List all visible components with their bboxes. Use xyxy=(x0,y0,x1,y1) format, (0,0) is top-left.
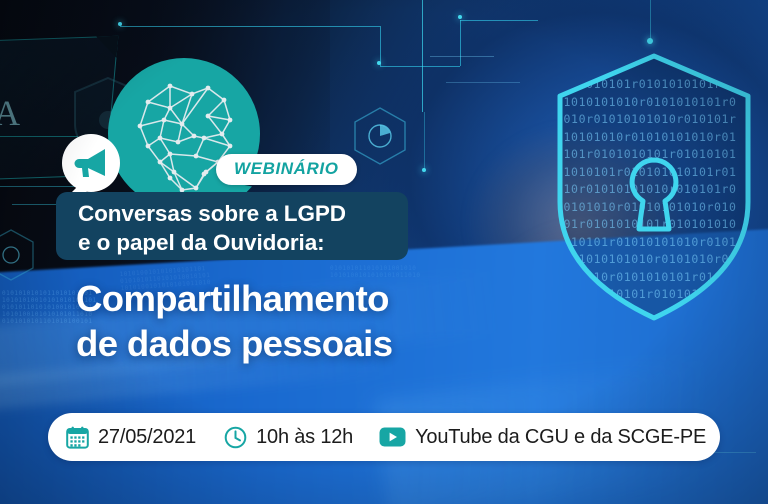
event-date: 27/05/2021 xyxy=(98,426,196,449)
calendar-icon xyxy=(66,426,89,449)
info-item-time: 10h às 12h xyxy=(224,426,353,449)
info-item-channel: YouTube da CGU e da SCGE-PE xyxy=(379,426,706,449)
info-item-date: 27/05/2021 xyxy=(66,426,196,449)
webinar-banner: 0101010101011010101001 10101010010101010… xyxy=(0,0,768,504)
event-channel: YouTube da CGU e da SCGE-PE xyxy=(415,426,706,449)
subtitle-line-2: e o papel da Ouvidoria: xyxy=(78,228,408,257)
event-time: 10h às 12h xyxy=(256,426,353,449)
event-info-bar: 27/05/2021 10h às 12h YouTube da CGU e d… xyxy=(48,413,720,461)
headline-line-1: Compartilhamento xyxy=(76,276,596,321)
webinar-badge: WEBINÁRIO xyxy=(216,154,357,185)
subtitle-box: Conversas sobre a LGPD e o papel da Ouvi… xyxy=(56,192,408,260)
clock-icon xyxy=(224,426,247,449)
youtube-icon[interactable] xyxy=(379,427,406,447)
headline-line-2: de dados pessoais xyxy=(76,321,596,366)
subtitle-line-1: Conversas sobre a LGPD xyxy=(78,199,408,228)
page-title: Compartilhamento de dados pessoais xyxy=(76,276,596,366)
